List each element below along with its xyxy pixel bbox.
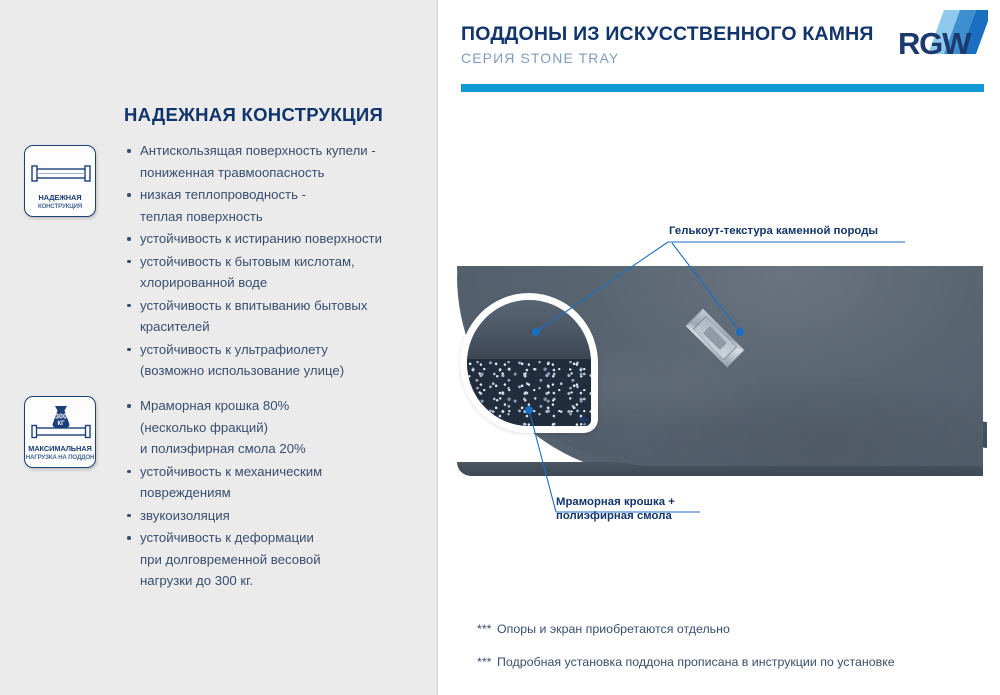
footnote: *** Подробная установка поддона прописан…	[477, 654, 977, 670]
product-stage: +	[437, 96, 1000, 616]
header-rule	[461, 84, 984, 92]
badge-caption-line2: КОНСТРУКЦИЯ	[38, 203, 82, 212]
badge-weight-unit: КГ	[57, 421, 65, 427]
list-item: устойчивость к ультрафиолету (возможно и…	[126, 339, 426, 382]
list-item: Антискользящая поверхность купели - пони…	[126, 140, 426, 183]
page-root: НАДЕЖНАЯ КОНСТРУКЦИЯ Антискользящая пове…	[0, 0, 1000, 695]
badge-caption: НАДЕЖНАЯ КОНСТРУКЦИЯ	[38, 194, 82, 211]
list-item: Мраморная крошка 80% (несколько фракций)…	[126, 395, 426, 460]
list-item: устойчивость к механическим повреждениям	[126, 461, 426, 504]
list-item: устойчивость к бытовым кислотам, хлориро…	[126, 251, 426, 294]
list-item: низкая теплопроводность - теплая поверхн…	[126, 184, 426, 227]
callout-marble-resin: Мраморная крошка + полиэфирная смола	[556, 496, 675, 523]
badge-caption-line1: МАКСИМАЛЬНАЯ	[26, 445, 95, 454]
gelcoat-layer	[467, 300, 591, 359]
footnote-marker: ***	[477, 654, 491, 670]
header-subtitle: СЕРИЯ STONE TRAY	[461, 50, 619, 66]
badge-caption: МАКСИМАЛЬНАЯ НАГРУЗКА НА ПОДДОН	[26, 445, 95, 462]
badge-caption-line2: НАГРУЗКА НА ПОДДОН	[26, 454, 95, 463]
rgw-logo: RGW	[898, 10, 988, 68]
footnotes: *** Опоры и экран приобретаются отдельно…	[477, 621, 977, 687]
page-title: НАДЕЖНАЯ КОНСТРУКЦИЯ	[124, 104, 383, 126]
footnote: *** Опоры и экран приобретаются отдельно	[477, 621, 977, 637]
logo-wordmark: RGW	[898, 26, 970, 62]
tray-panel-icon	[25, 152, 97, 194]
badge-caption-line1: НАДЕЖНАЯ	[38, 194, 82, 203]
plus-icon: +	[578, 411, 589, 430]
list-item: устойчивость к деформации при долговреме…	[126, 527, 426, 592]
footnote-marker: ***	[477, 621, 491, 637]
callout-gelcoat-texture: Гелькоут-текстура каменной породы	[669, 225, 878, 239]
badge-reliable-construction: НАДЕЖНАЯ КОНСТРУКЦИЯ	[24, 145, 96, 217]
list-item: звукоизоляция	[126, 505, 426, 527]
marble-chip-layer	[467, 359, 591, 426]
badge-weight-value: 300	[55, 414, 67, 421]
header-title: ПОДДОНЫ ИЗ ИСКУССТВЕННОГО КАМНЯ	[461, 23, 874, 46]
weight-on-tray-icon: 300 КГ	[25, 403, 97, 445]
magnifier-inner	[467, 300, 591, 426]
footnote-text: Опоры и экран приобретаются отдельно	[497, 622, 730, 636]
drain-cover-icon	[685, 308, 745, 368]
badge-max-load: 300 КГ МАКСИМАЛЬНАЯ НАГРУЗКА НА ПОДДОН	[24, 396, 96, 468]
list-item: устойчивость к истиранию поверхности	[126, 228, 426, 250]
material-magnifier: +	[460, 293, 598, 433]
list-item: устойчивость к впитыванию бытовых красит…	[126, 295, 426, 338]
footnote-text: Подробная установка поддона прописана в …	[497, 655, 895, 669]
feature-list-material: Мраморная крошка 80% (несколько фракций)…	[126, 395, 426, 593]
feature-list-construction: Антискользящая поверхность купели - пони…	[126, 140, 426, 383]
